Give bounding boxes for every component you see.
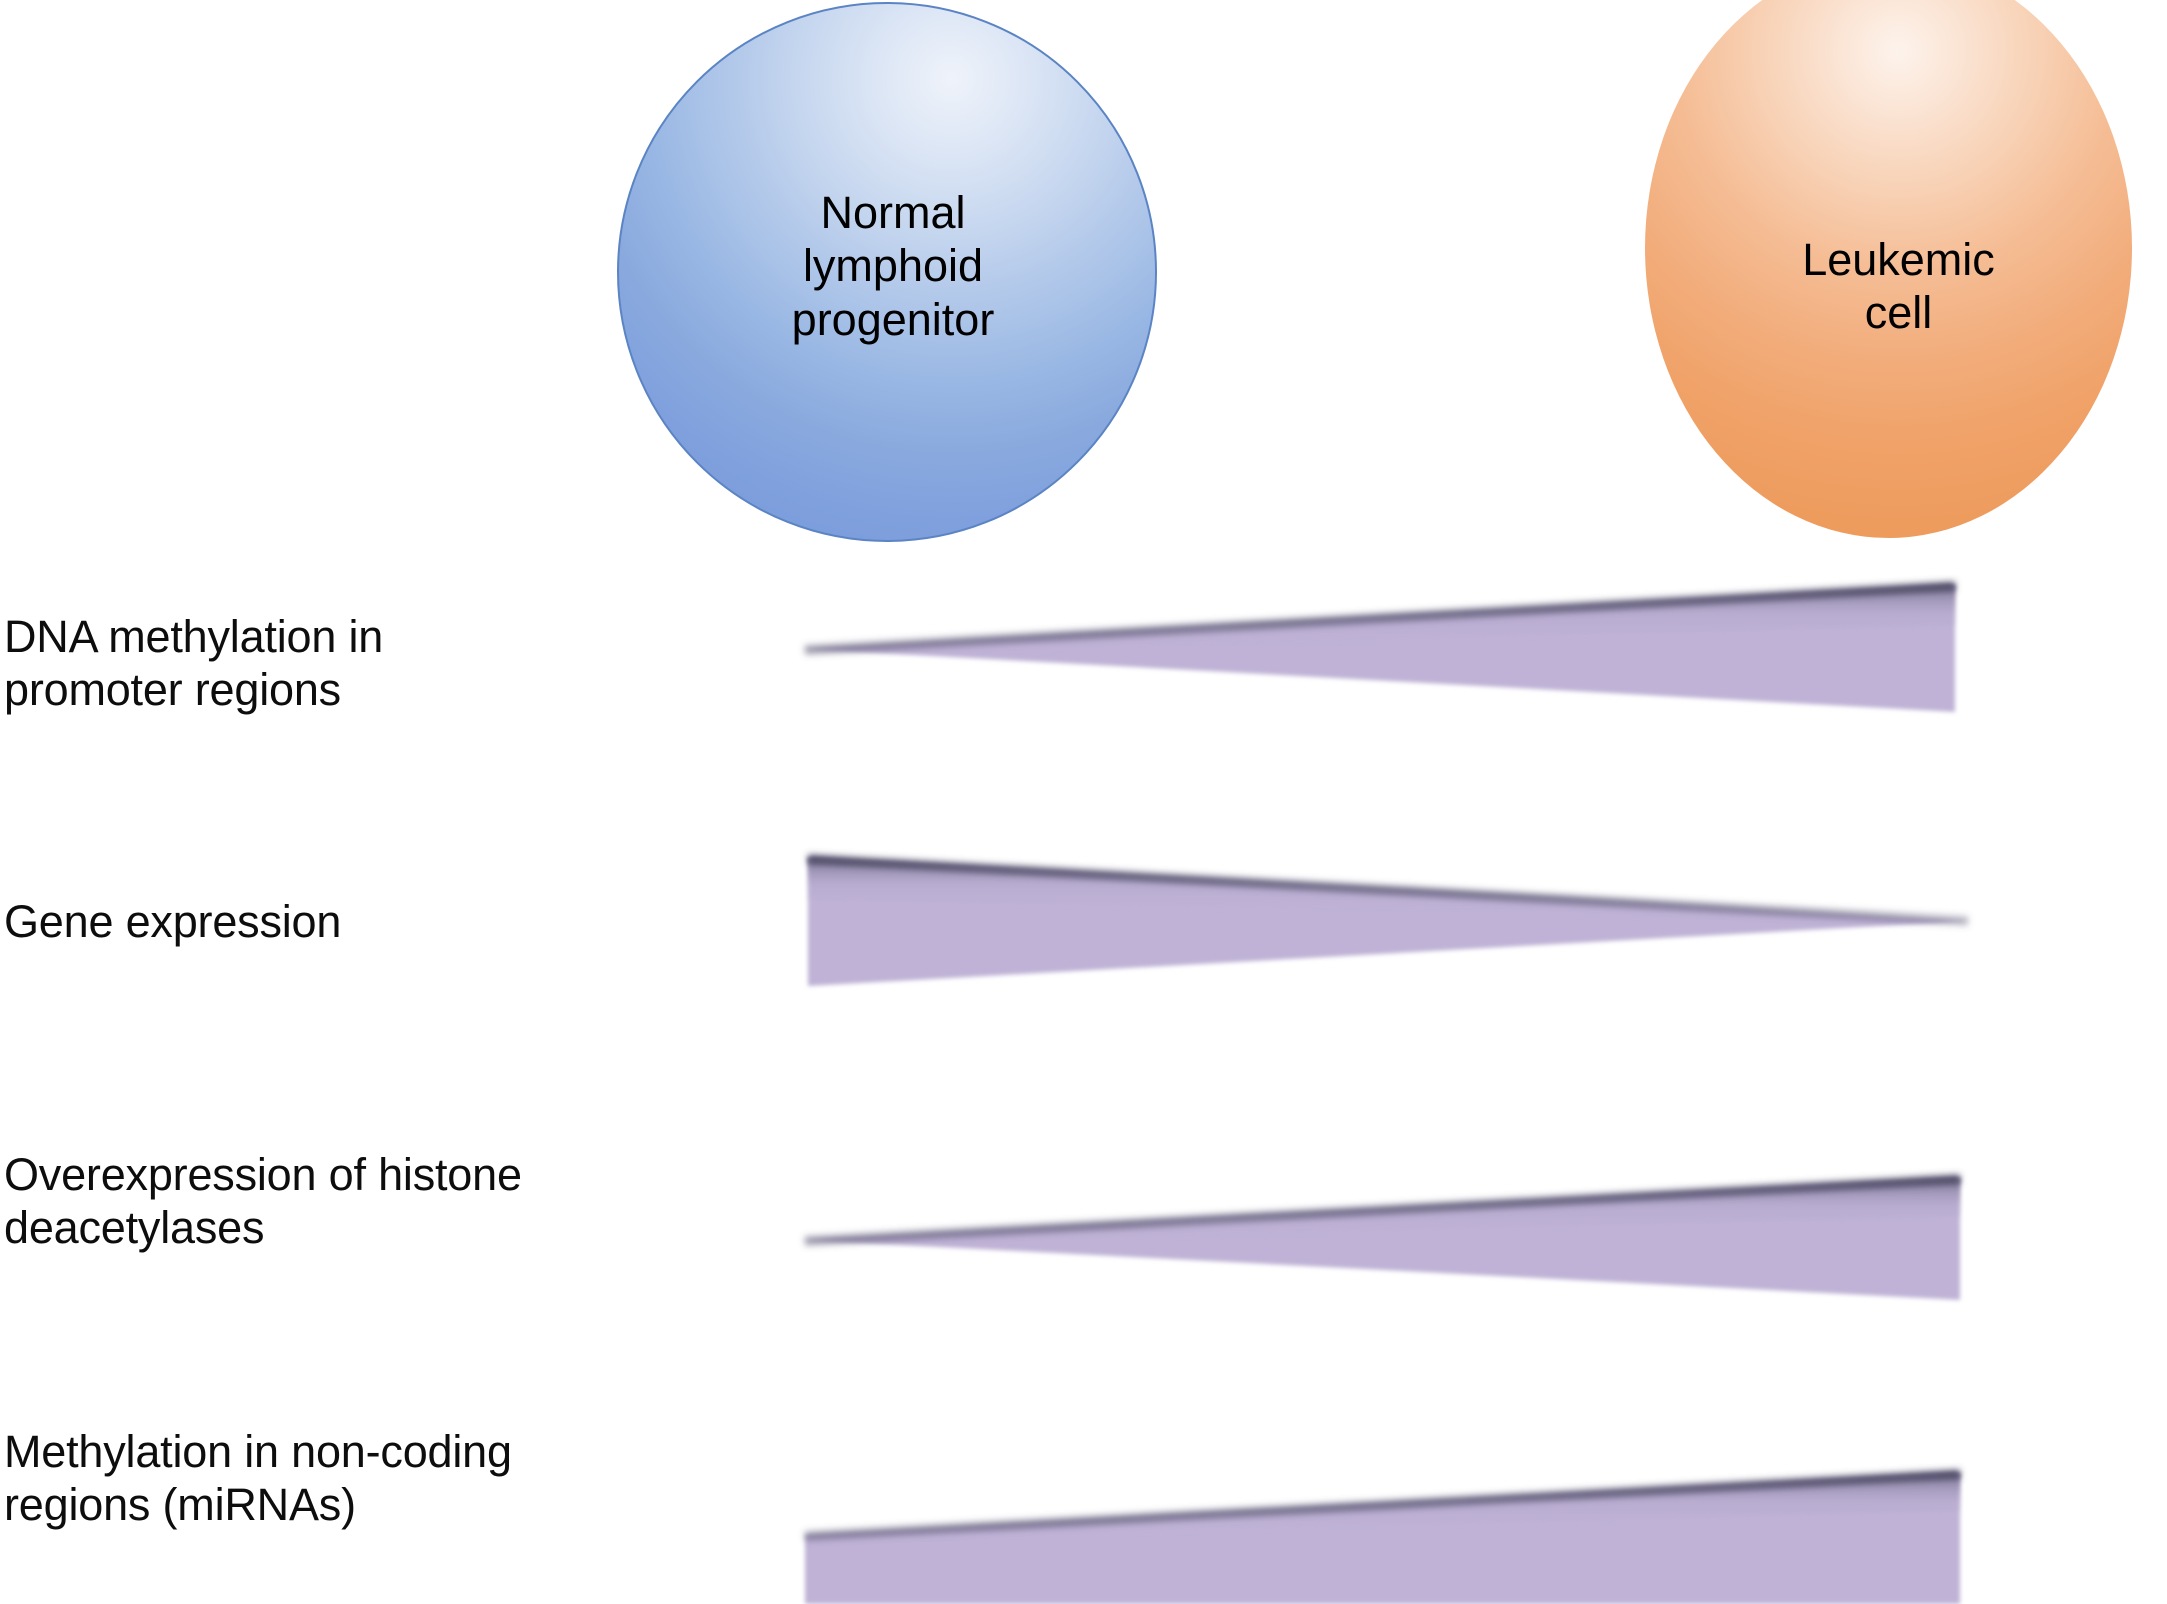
diagram-canvas: Normal lymphoid progenitor Leukemic cell… <box>0 0 2167 1604</box>
wedge-histone-deacetylase-overexpression <box>805 1178 1960 1300</box>
cell-leukemic-cell: Leukemic cell <box>1645 0 2132 538</box>
wedge-dna-methylation-promoter <box>805 585 1955 712</box>
row-label-histone-deacetylase-overexpression: Overexpression of histone deacetylases <box>4 1148 522 1254</box>
cell-leukemic-cell-label: Leukemic cell <box>1802 233 1995 339</box>
wedge-gene-expression <box>808 858 1968 986</box>
wedge-methylation-non-coding-mirna <box>805 1473 1960 1604</box>
row-label-dna-methylation-promoter: DNA methylation in promoter regions <box>4 610 383 716</box>
row-label-methylation-non-coding-mirna: Methylation in non-coding regions (miRNA… <box>4 1425 512 1531</box>
row-label-gene-expression: Gene expression <box>4 895 341 948</box>
cell-normal-lymphoid-progenitor-label: Normal lymphoid progenitor <box>792 186 995 345</box>
cell-normal-lymphoid-progenitor: Normal lymphoid progenitor <box>617 2 1157 542</box>
